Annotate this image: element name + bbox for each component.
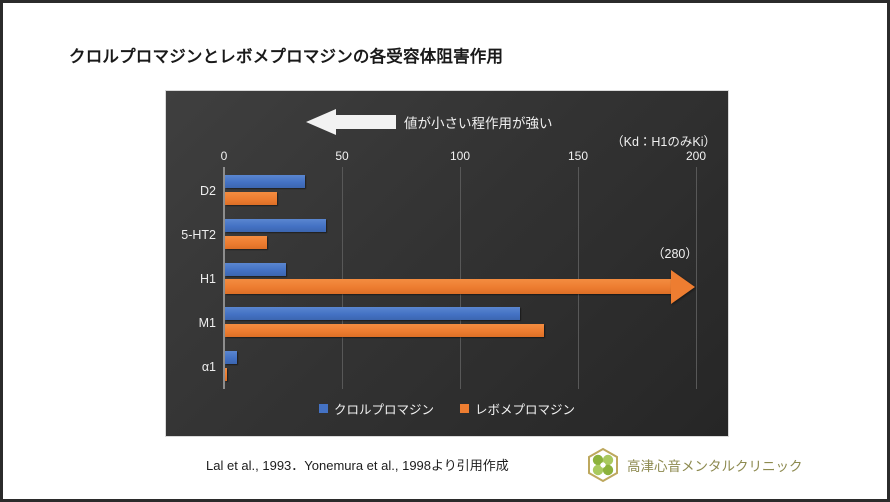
legend-label: クロルプロマジン — [334, 399, 434, 418]
clinic-branding: 高津心音メンタルクリニック — [586, 447, 803, 483]
legend-swatch — [460, 404, 469, 413]
legend-item[interactable]: クロルプロマジン — [319, 399, 434, 418]
bar-レボメプロマジン — [225, 236, 267, 249]
slide: クロルプロマジンとレボメプロマジンの各受容体阻害作用 値が小さい程作用が強い （… — [0, 0, 890, 502]
bar-クロルプロマジン — [225, 351, 237, 364]
chart-legend: クロルプロマジンレボメプロマジン — [166, 399, 728, 418]
category-label: D2 — [200, 184, 216, 198]
bar-クロルプロマジン — [225, 263, 286, 276]
bar-クロルプロマジン — [225, 175, 305, 188]
legend-label: レボメプロマジン — [475, 399, 575, 418]
bar-row: M1 — [166, 301, 728, 345]
bar-レボメプロマジン — [225, 368, 227, 381]
legend-swatch — [319, 404, 328, 413]
category-label: 5-HT2 — [181, 228, 216, 242]
bar-overflow-arrow-icon — [671, 270, 695, 304]
bar-row: H1（280） — [166, 257, 728, 301]
category-label: H1 — [200, 272, 216, 286]
x-tick-label: 50 — [335, 149, 348, 163]
bar-レボメプロマジン — [225, 324, 544, 337]
x-tick-label: 150 — [568, 149, 588, 163]
bar-レボメプロマジン — [225, 279, 673, 294]
bar-クロルプロマジン — [225, 307, 520, 320]
clinic-name: 高津心音メンタルクリニック — [627, 455, 803, 475]
bar-レボメプロマジン — [225, 192, 277, 205]
x-tick-label: 100 — [450, 149, 470, 163]
bar-row: D2 — [166, 169, 728, 213]
citation: Lal et al., 1993．Yonemura et al., 1998より… — [206, 455, 509, 474]
bar-クロルプロマジン — [225, 219, 326, 232]
chart-panel: 値が小さい程作用が強い （Kd：H1のみKi） 050100150200 D25… — [166, 91, 728, 436]
category-label: M1 — [199, 316, 216, 330]
page-title: クロルプロマジンとレボメプロマジンの各受容体阻害作用 — [69, 43, 503, 67]
clover-hexagon-logo-icon — [586, 447, 620, 483]
x-tick-label: 200 — [686, 149, 706, 163]
category-label: α1 — [202, 360, 216, 374]
x-tick-label: 0 — [221, 149, 228, 163]
bar-value-label: （280） — [652, 243, 698, 262]
x-axis-tick-labels: 050100150200 — [166, 149, 728, 165]
bar-row: 5-HT2 — [166, 213, 728, 257]
legend-item[interactable]: レボメプロマジン — [460, 399, 575, 418]
plot-area: 050100150200 D25-HT2H1（280）M1α1 — [166, 91, 728, 436]
bar-row: α1 — [166, 345, 728, 389]
